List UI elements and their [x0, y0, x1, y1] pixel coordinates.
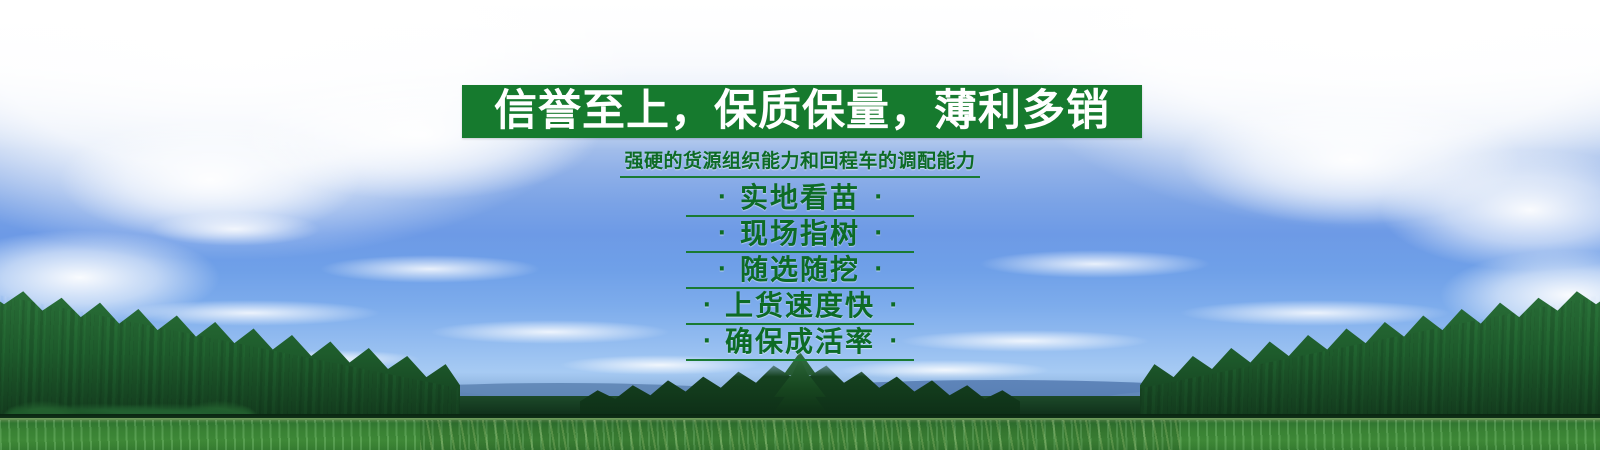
feature-label: 现场指树	[740, 220, 860, 248]
headline-bar: 信誉至上，保质保量，薄利多销	[462, 85, 1142, 138]
subtitle: 强硬的货源组织能力和回程车的调配能力	[0, 146, 1600, 178]
bullet-dot-icon: ·	[689, 295, 725, 317]
list-item: · 上货速度快 ·	[0, 288, 1600, 324]
feature-label: 上货速度快	[725, 292, 875, 320]
list-item: · 确保成活率 ·	[0, 324, 1600, 360]
feature-label: 随选随挖	[740, 256, 860, 284]
bullet-dot-icon: ·	[689, 331, 725, 353]
list-item: · 实地看苗 ·	[0, 180, 1600, 216]
bullet-dot-icon: ·	[704, 259, 740, 281]
feature-underline	[686, 359, 914, 361]
feature-label: 确保成活率	[725, 328, 875, 356]
crop-rows-perspective	[420, 420, 1180, 450]
bullet-dot-icon: ·	[704, 187, 740, 209]
feature-label: 实地看苗	[740, 184, 860, 212]
bullet-dot-icon: ·	[704, 223, 740, 245]
bullet-dot-icon: ·	[875, 295, 911, 317]
bullet-dot-icon: ·	[860, 187, 896, 209]
list-item: · 随选随挖 ·	[0, 252, 1600, 288]
subtitle-text: 强硬的货源组织能力和回程车的调配能力	[620, 146, 979, 178]
promo-banner: 信誉至上，保质保量，薄利多销 强硬的货源组织能力和回程车的调配能力 · 实地看苗…	[0, 0, 1600, 450]
bullet-dot-icon: ·	[875, 331, 911, 353]
headline-text: 信誉至上，保质保量，薄利多销	[494, 90, 1110, 133]
bullet-dot-icon: ·	[860, 223, 896, 245]
bullet-dot-icon: ·	[860, 259, 896, 281]
feature-list: · 实地看苗 · · 现场指树 · · 随选随挖 · · 上货速度快 · · 确…	[0, 180, 1600, 360]
list-item: · 现场指树 ·	[0, 216, 1600, 252]
